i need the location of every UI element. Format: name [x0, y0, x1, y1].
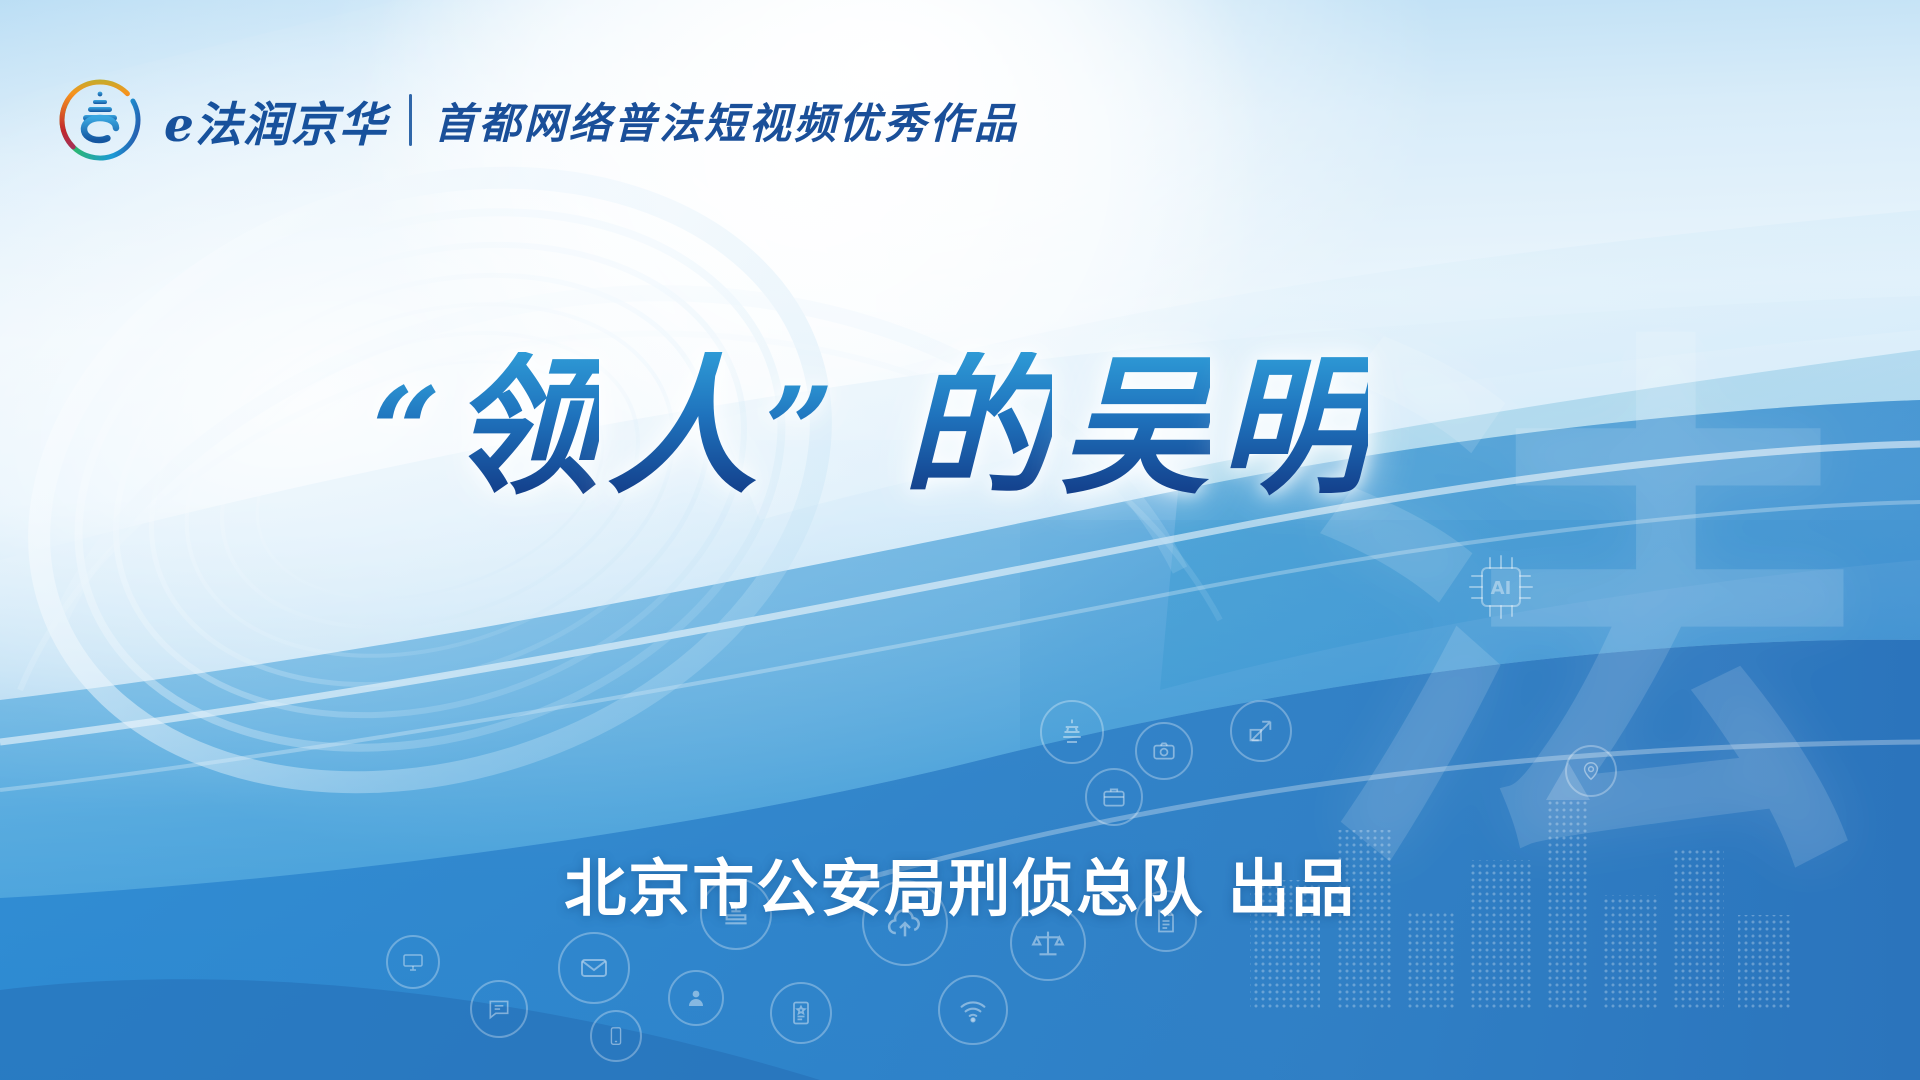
monitor-icon [386, 935, 440, 989]
document-icon [1135, 890, 1197, 952]
brand-name: e法润京华 [164, 86, 387, 155]
briefcase-icon [1085, 768, 1143, 826]
wifi-icon [938, 975, 1008, 1045]
balance-scale-icon [1010, 905, 1086, 981]
pagoda-icon [1040, 700, 1104, 764]
cloud-upload-icon [862, 880, 948, 966]
envelope-icon [558, 932, 630, 1004]
gavel-icon [700, 878, 772, 950]
brand-header: e法润京华 首都网络普法短视频优秀作品 [52, 72, 1019, 168]
poster-canvas: 法 [0, 0, 1920, 1080]
brand-divider [409, 94, 412, 146]
camera-icon [1135, 722, 1193, 780]
user-icon [668, 970, 724, 1026]
certificate-icon [770, 982, 832, 1044]
mobile-icon [590, 1010, 642, 1062]
chat-bubble-icon [470, 980, 528, 1038]
e-pagoda-circle-logo [52, 72, 148, 168]
location-pin-icon [1565, 745, 1617, 797]
brand-text-group: e法润京华 首都网络普法短视频优秀作品 [164, 86, 1019, 155]
share-icon [1230, 700, 1292, 762]
brand-subtitle: 首都网络普法短视频优秀作品 [434, 90, 1019, 151]
